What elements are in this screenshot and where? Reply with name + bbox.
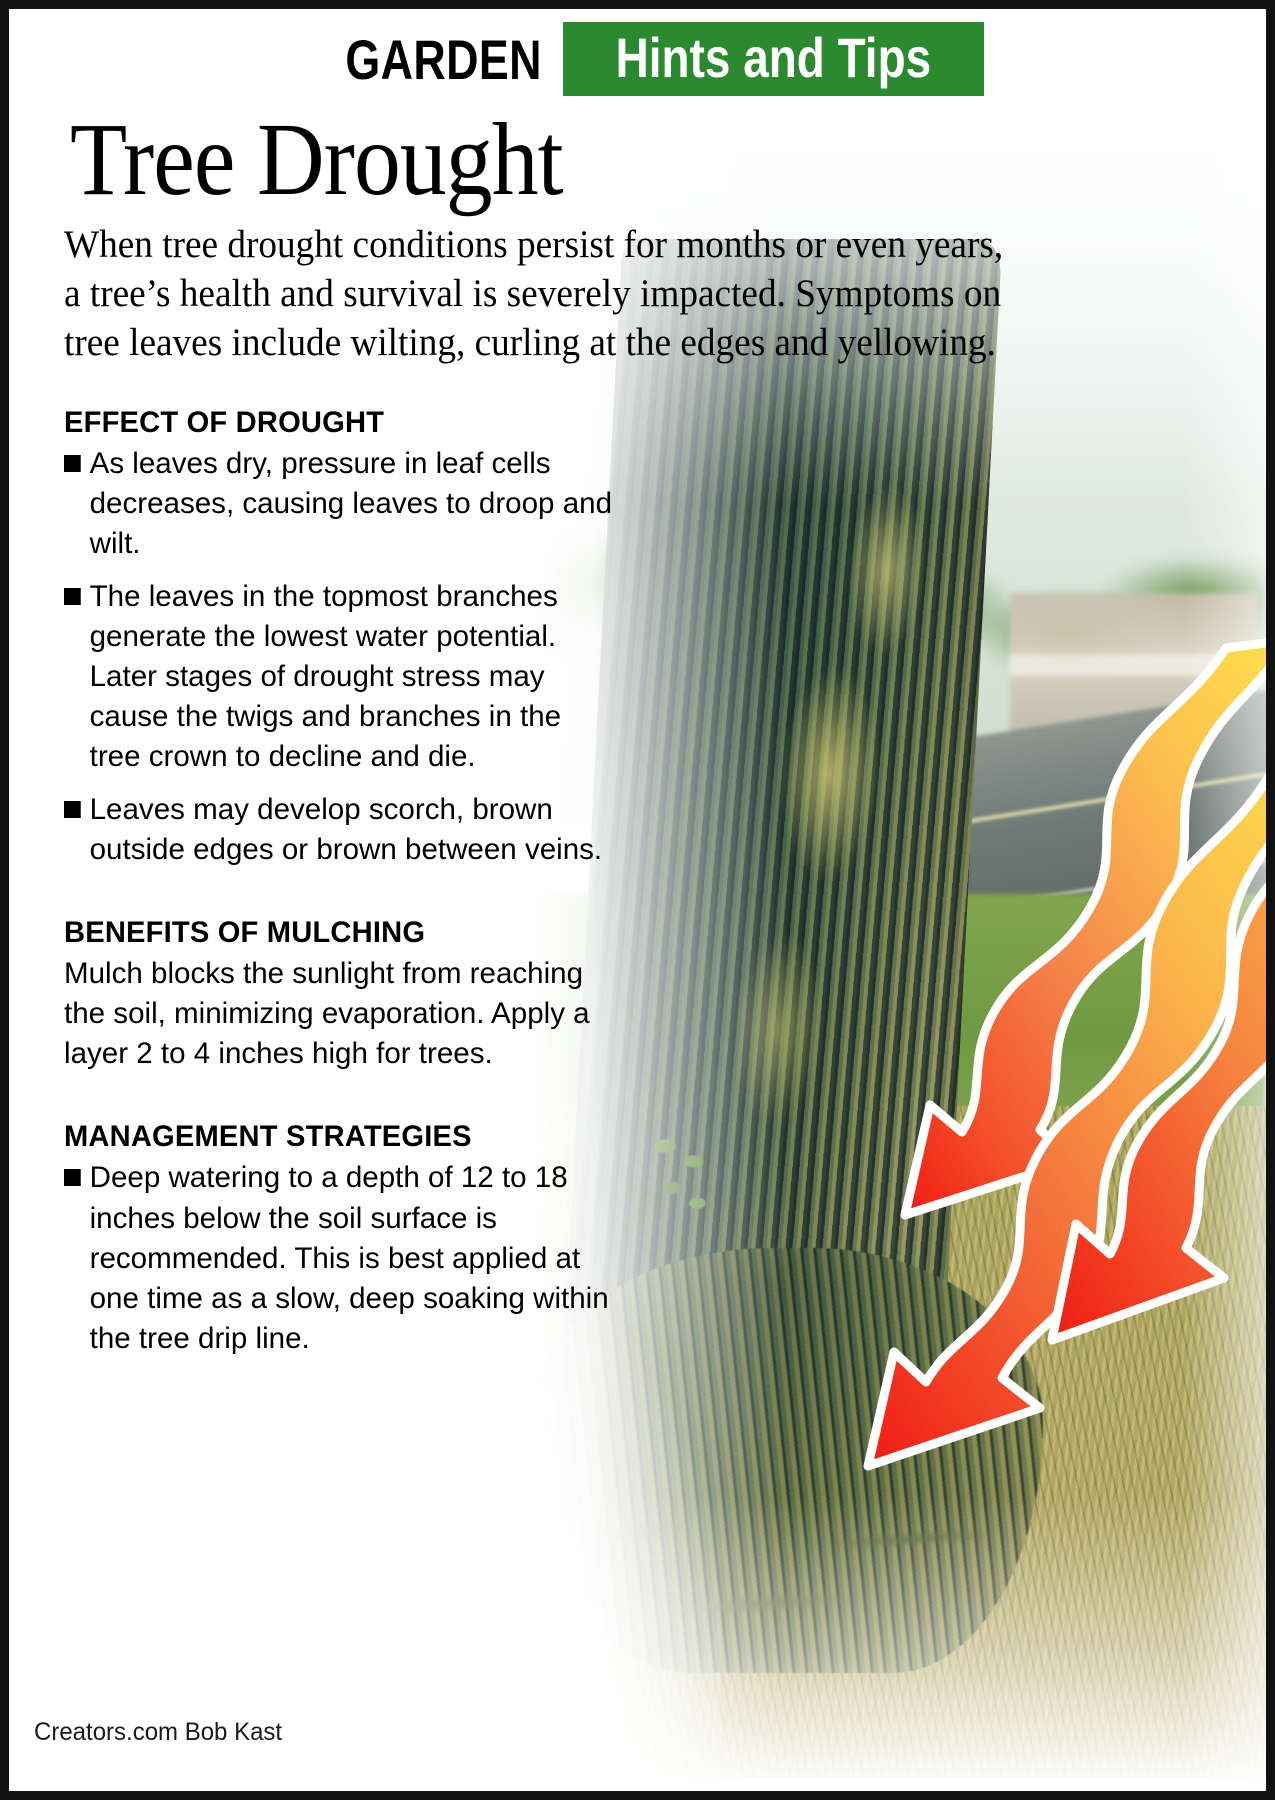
- hints-and-tips-label: Hints and Tips: [616, 25, 932, 90]
- list-item-text: Leaves may develop scorch, brown outside…: [90, 793, 603, 866]
- header: GARDEN Hints and Tips: [9, 9, 1266, 104]
- intro-paragraph: When tree drought conditions persist for…: [64, 220, 1029, 367]
- section-heading-management-strategies: MANAGEMENT STRATEGIES: [64, 1120, 607, 1154]
- frame-border-right: [1266, 0, 1275, 1800]
- list-item: Leaves may develop scorch, brown outside…: [64, 790, 616, 870]
- content-column: EFFECT OF DROUGHT As leaves dry, pressur…: [64, 406, 624, 1371]
- frame-border-bottom: [0, 1791, 1275, 1800]
- section-spacer: [64, 1086, 624, 1120]
- bullet-square-icon: [64, 455, 81, 472]
- list-item: Deep watering to a depth of 12 to 18 inc…: [64, 1158, 616, 1359]
- frame-border-top: [0, 0, 1275, 9]
- list-item: As leaves dry, pressure in leaf cells de…: [64, 444, 616, 565]
- list-item-text: Mulch blocks the sunlight from reaching …: [64, 957, 590, 1070]
- bullet-square-icon: [64, 801, 81, 818]
- list-item-text: The leaves in the topmost branches gener…: [90, 580, 561, 774]
- section-heading-benefits-of-mulching: BENEFITS OF MULCHING: [64, 916, 607, 950]
- hints-and-tips-banner: Hints and Tips: [563, 22, 984, 96]
- section-spacer: [64, 882, 624, 916]
- brand-label: GARDEN: [346, 27, 563, 92]
- frame-border-left: [0, 0, 9, 1800]
- bullet-square-icon: [64, 1169, 81, 1186]
- list-item-text: As leaves dry, pressure in leaf cells de…: [90, 447, 612, 560]
- bullet-square-icon: [64, 588, 81, 605]
- list-item: Mulch blocks the sunlight from reaching …: [64, 954, 616, 1075]
- page-title: Tree Drought: [70, 108, 563, 212]
- credit-line: Creators.com Bob Kast: [34, 1718, 282, 1747]
- section-heading-effect-of-drought: EFFECT OF DROUGHT: [64, 406, 607, 440]
- list-item-text: Deep watering to a depth of 12 to 18 inc…: [90, 1161, 609, 1355]
- infographic-poster: GARDEN Hints and Tips Tree Drought When …: [0, 0, 1275, 1800]
- list-item: The leaves in the topmost branches gener…: [64, 577, 616, 778]
